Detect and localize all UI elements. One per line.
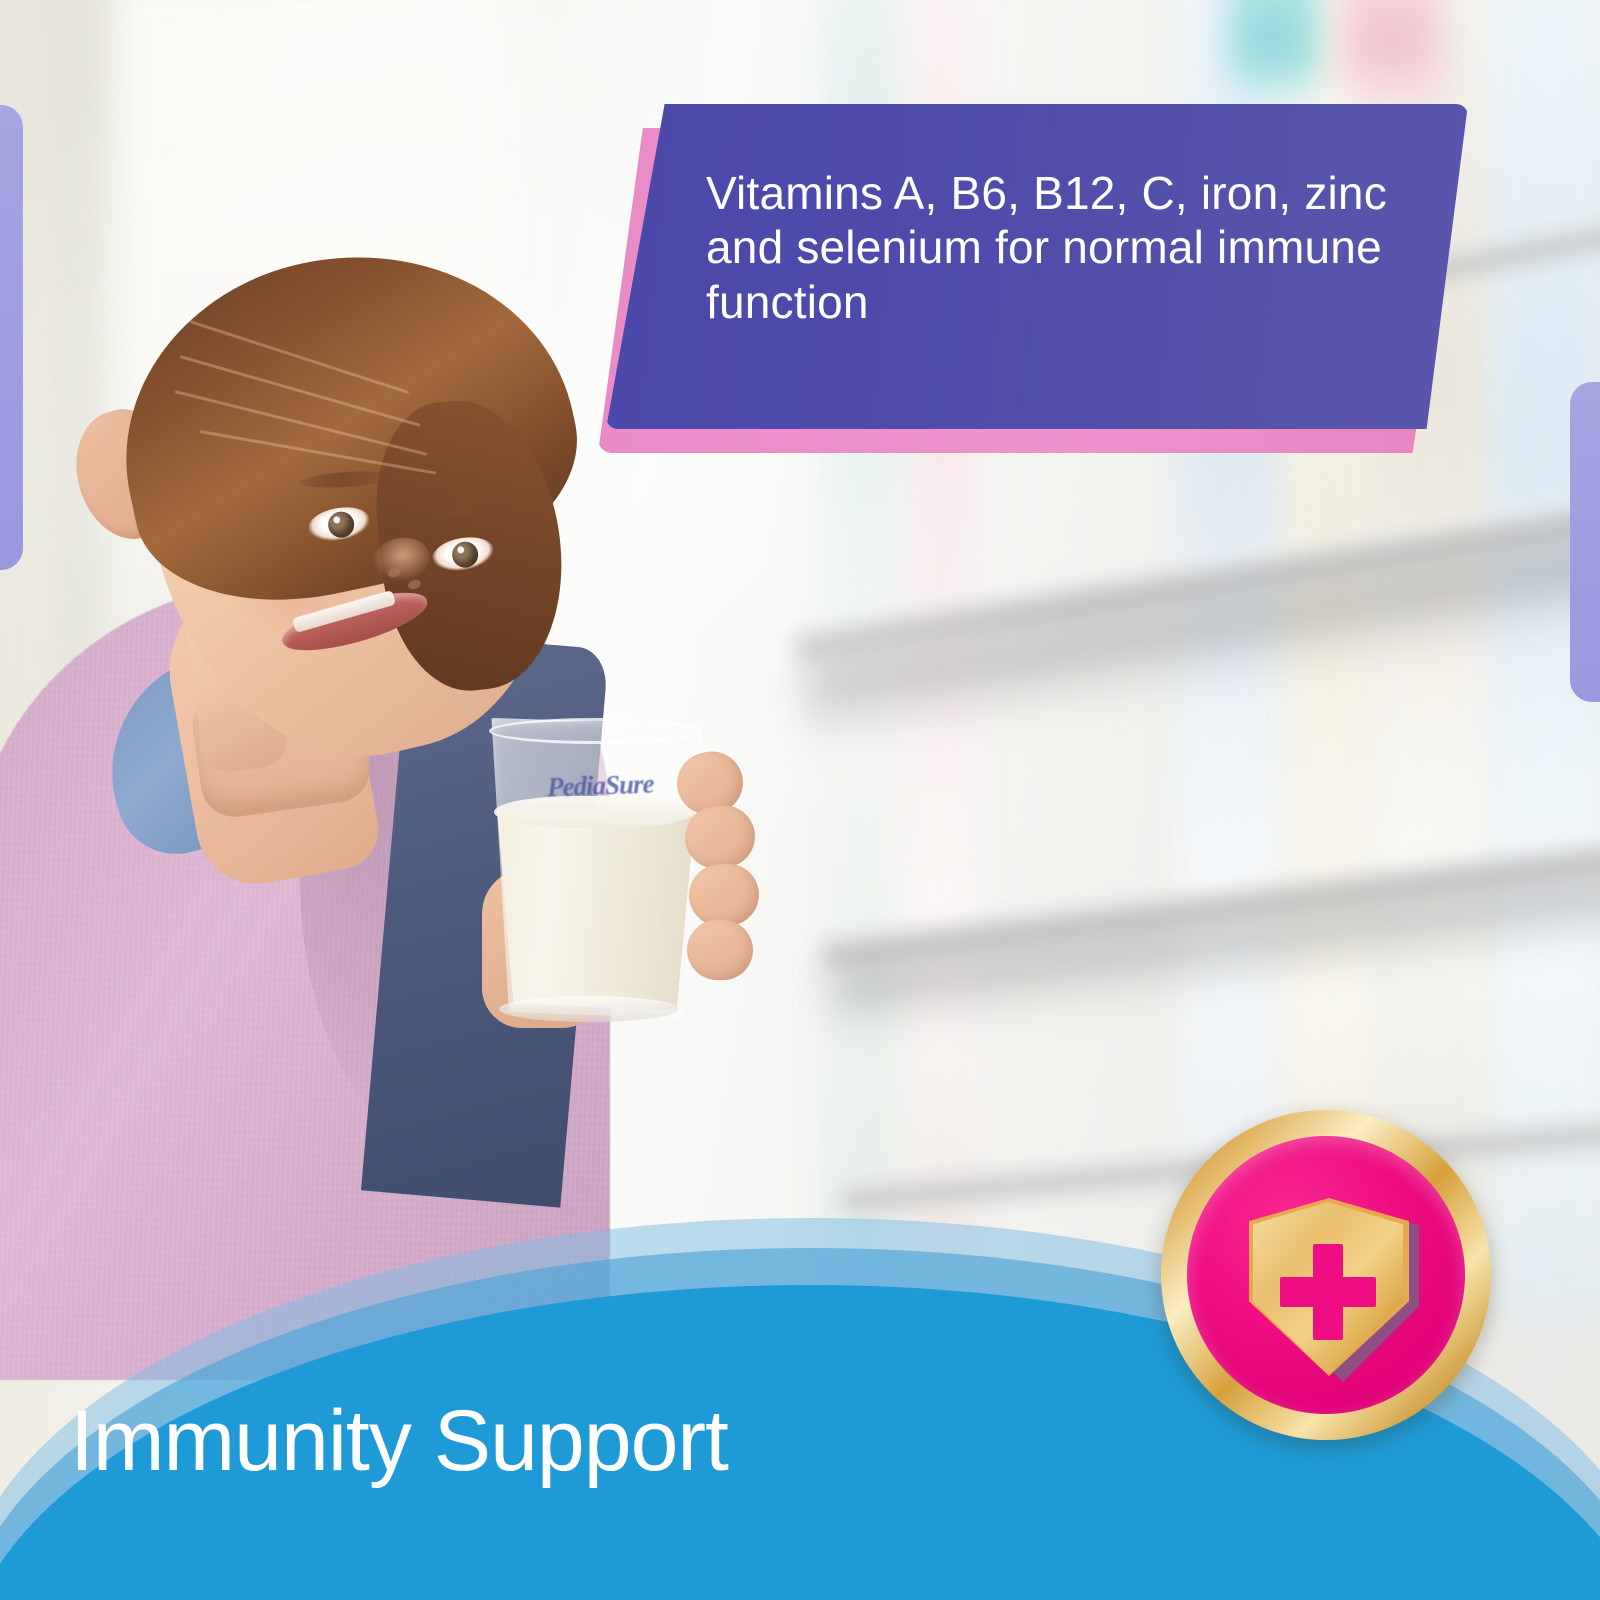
advertisement-canvas: PediaSure Vitamins A, B6, B12, C, iron, …: [0, 0, 1600, 1600]
plus-icon-horizontal: [1280, 1277, 1376, 1307]
finger: [687, 862, 761, 929]
boy-iris-left: [326, 510, 356, 540]
badge-inner-circle: [1187, 1136, 1465, 1414]
boy-iris-right: [450, 540, 480, 570]
finger: [686, 919, 754, 981]
callout-banner: Vitamins A, B6, B12, C, iron, zinc and s…: [606, 104, 1468, 429]
glass-base: [499, 996, 679, 1022]
boy-hand-fingers: [669, 748, 789, 1008]
callout-text: Vitamins A, B6, B12, C, iron, zinc and s…: [706, 166, 1426, 329]
milk-glass: PediaSure: [487, 718, 707, 1018]
finger: [681, 801, 759, 872]
immunity-badge: [1161, 1110, 1491, 1440]
headline-text: Immunity Support: [70, 1392, 728, 1491]
glass-brand-label: PediaSure: [546, 768, 677, 804]
glass-milk-fill: [493, 810, 697, 1010]
glass-rim: [489, 718, 701, 744]
decorative-tab-right: [1570, 382, 1600, 702]
